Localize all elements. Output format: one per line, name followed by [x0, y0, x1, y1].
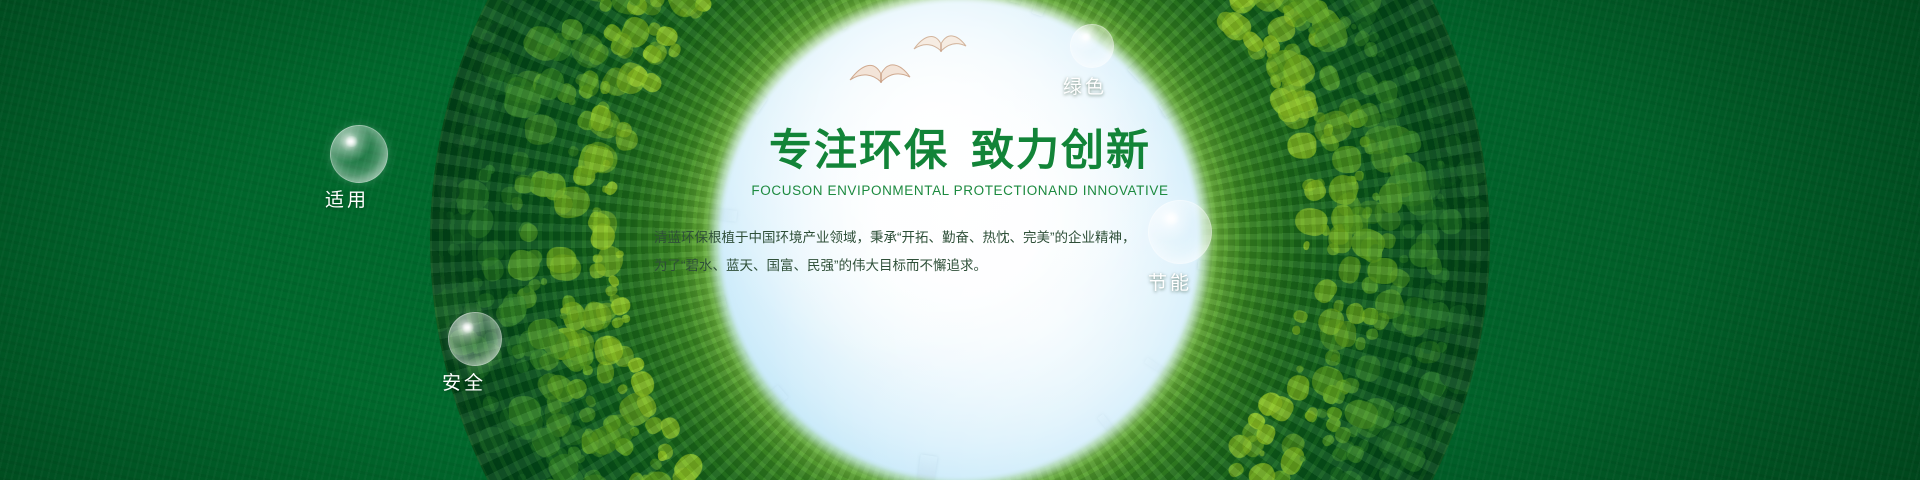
headline: 专注环保致力创新	[650, 128, 1270, 174]
body-text: 清蓝环保根植于中国环境产业领域，秉承“开拓、勤奋、热忱、完美”的企业精神， 为了…	[650, 224, 1270, 279]
foliage-leaf	[670, 449, 708, 480]
foliage-leaf	[1402, 224, 1415, 239]
foliage-leaf	[509, 396, 542, 427]
subline: FOCUSON ENVIPONMENTAL PROTECTIONAND INNO…	[650, 183, 1270, 198]
foliage-leaf	[524, 113, 558, 145]
foliage-leaf	[1418, 78, 1430, 89]
foliage-leaf	[1432, 14, 1455, 42]
foliage-leaf	[1421, 341, 1433, 354]
foliage-leaf	[517, 473, 528, 480]
foliage-leaf	[1226, 460, 1245, 479]
foliage-leaf	[1365, 328, 1378, 341]
foliage-leaf	[1292, 326, 1300, 335]
foliage-leaf	[453, 394, 465, 407]
foliage-leaf	[1470, 272, 1490, 311]
foliage-leaf	[1320, 433, 1335, 448]
foliage-leaf	[1303, 241, 1311, 251]
foliage-leaf	[1396, 355, 1414, 375]
headline-part2: 致力创新	[971, 127, 1151, 175]
foliage-leaf	[458, 376, 466, 384]
foliage-leaf	[446, 242, 462, 258]
foliage-leaf	[1398, 254, 1409, 264]
foliage-leaf	[567, 145, 581, 159]
foliage-leaf	[577, 405, 597, 424]
foliage-leaf	[1333, 299, 1345, 313]
foliage-leaf	[541, 278, 548, 285]
foliage-leaf	[556, 0, 593, 5]
foliage-leaf	[1375, 79, 1398, 103]
foliage-leaf	[1292, 309, 1309, 325]
foliage-leaf	[1287, 133, 1316, 159]
foliage-leaf	[1367, 258, 1398, 284]
banner-text-block: 专注环保致力创新 FOCUSON ENVIPONMENTAL PROTECTIO…	[650, 128, 1270, 280]
foliage-leaf	[616, 382, 630, 396]
body-line-2: 为了“碧水、蓝天、国富、民强”的伟大目标而不懈追求。	[654, 252, 1270, 280]
foliage-leaf	[1317, 64, 1342, 93]
foliage-leaf	[1295, 364, 1305, 374]
foliage-leaf	[1315, 407, 1328, 419]
foliage-leaf	[473, 113, 482, 124]
foliage-leaf	[1353, 447, 1361, 455]
foliage-leaf	[1456, 230, 1490, 267]
foliage-leaf	[510, 151, 530, 173]
foliage-leaf	[1353, 353, 1382, 383]
foliage-leaf	[458, 148, 470, 160]
foliage-leaf	[1336, 254, 1363, 285]
foliage-leaf	[570, 310, 579, 321]
foliage-leaf	[1286, 374, 1311, 401]
foliage-leaf	[546, 247, 577, 273]
foliage-leaf	[603, 179, 620, 196]
foliage-leaf	[1457, 137, 1490, 167]
foliage-leaf	[1376, 49, 1386, 59]
foliage-leaf	[1265, 50, 1301, 83]
foliage-leaf	[1416, 234, 1432, 254]
foliage-leaf	[575, 0, 586, 3]
hero-banner: 专注环保致力创新 FOCUSON ENVIPONMENTAL PROTECTIO…	[0, 0, 1920, 480]
foliage-leaf	[1355, 337, 1366, 351]
foliage-leaf	[622, 314, 631, 323]
foliage-leaf	[1461, 196, 1490, 226]
headline-part1: 专注环保	[769, 127, 949, 175]
foliage-leaf	[1396, 384, 1410, 398]
foliage-leaf	[1245, 459, 1278, 480]
foliage-leaf	[1314, 112, 1326, 122]
foliage-leaf	[598, 0, 613, 13]
foliage-leaf	[609, 294, 620, 303]
foliage-leaf	[1299, 455, 1306, 462]
foliage-leaf	[1332, 146, 1361, 173]
body-line-1: 清蓝环保根植于中国环境产业领域，秉承“开拓、勤奋、热忱、完美”的企业精神，	[654, 224, 1270, 252]
foliage-leaf	[1346, 207, 1369, 237]
